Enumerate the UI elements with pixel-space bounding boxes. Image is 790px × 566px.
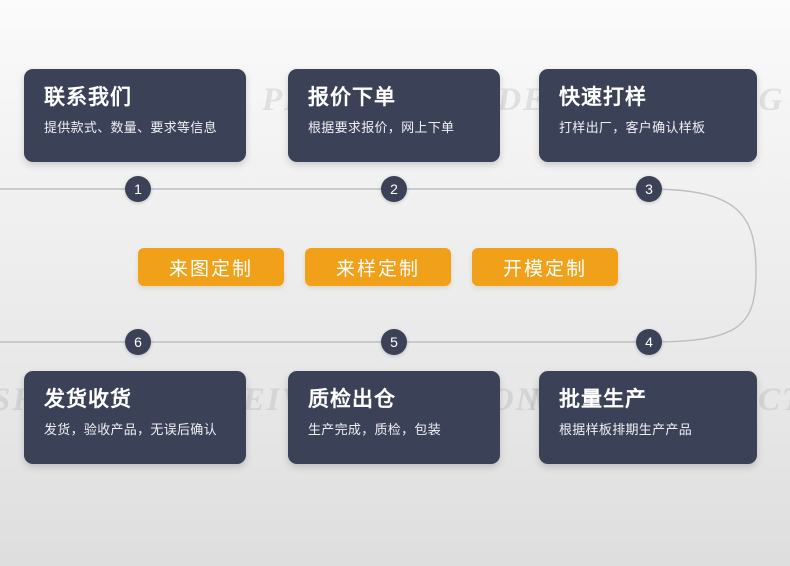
step-card-2-title: 报价下单 <box>308 86 480 109</box>
custom-order-flow-diagram: CONTACT US PLACE AN ORDER PROOFING SHIP … <box>0 0 790 566</box>
step-card-2-desc: 根据要求报价，网上下单 <box>308 120 480 136</box>
step-card-6-desc: 发货，验收产品，无误后确认 <box>44 422 226 438</box>
step-card-6[interactable]: 发货收货 发货，验收产品，无误后确认 <box>24 371 246 464</box>
step-card-4[interactable]: 批量生产 根据样板排期生产产品 <box>539 371 757 464</box>
step-badge-1: 1 <box>125 176 151 202</box>
step-card-3-title: 快速打样 <box>559 86 737 109</box>
step-badge-2: 2 <box>381 176 407 202</box>
service-pill-custom-by-sample[interactable]: 来样定制 <box>305 248 451 286</box>
step-badge-5: 5 <box>381 329 407 355</box>
step-card-1[interactable]: 联系我们 提供款式、数量、要求等信息 <box>24 69 246 162</box>
step-card-1-desc: 提供款式、数量、要求等信息 <box>44 120 226 136</box>
step-card-2[interactable]: 报价下单 根据要求报价，网上下单 <box>288 69 500 162</box>
step-card-3-desc: 打样出厂，客户确认样板 <box>559 120 737 136</box>
step-card-3[interactable]: 快速打样 打样出厂，客户确认样板 <box>539 69 757 162</box>
service-pill-custom-by-image[interactable]: 来图定制 <box>138 248 284 286</box>
service-pill-custom-by-mold[interactable]: 开模定制 <box>472 248 618 286</box>
step-card-1-title: 联系我们 <box>44 86 226 109</box>
step-card-5-title: 质检出仓 <box>308 388 480 411</box>
step-badge-4: 4 <box>636 329 662 355</box>
step-card-4-desc: 根据样板排期生产产品 <box>559 422 737 438</box>
step-badge-6: 6 <box>125 329 151 355</box>
step-card-5[interactable]: 质检出仓 生产完成，质检，包装 <box>288 371 500 464</box>
step-card-5-desc: 生产完成，质检，包装 <box>308 422 480 438</box>
step-card-4-title: 批量生产 <box>559 388 737 411</box>
step-badge-3: 3 <box>636 176 662 202</box>
step-card-6-title: 发货收货 <box>44 388 226 411</box>
